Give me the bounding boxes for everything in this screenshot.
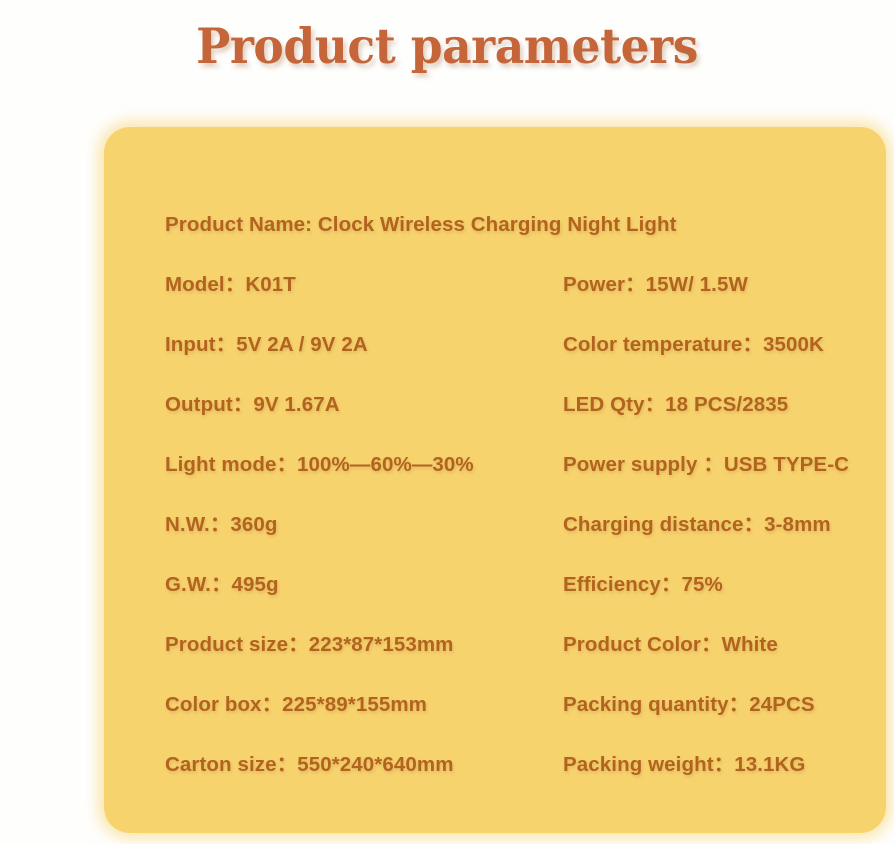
spec-power: Power：15W/ 1.5W bbox=[563, 267, 748, 303]
table-row: Light mode：100%—60%—30% Power supply ：US… bbox=[104, 447, 886, 483]
spec-charging-distance: Charging distance：3-8mm bbox=[563, 507, 831, 543]
spec-color-temperature: Color temperature：3500K bbox=[563, 327, 824, 363]
spec-efficiency: Efficiency：75% bbox=[563, 567, 723, 603]
spec-carton-size: Carton size：550*240*640mm bbox=[165, 747, 454, 783]
table-row: Product Name: Clock Wireless Charging Ni… bbox=[104, 207, 886, 243]
spec-table: Product Name: Clock Wireless Charging Ni… bbox=[104, 127, 886, 833]
spec-power-supply: Power supply ：USB TYPE-C bbox=[563, 447, 849, 483]
spec-input: Input：5V 2A / 9V 2A bbox=[165, 327, 368, 363]
table-row: Output：9V 1.67A LED Qty：18 PCS/2835 bbox=[104, 387, 886, 423]
table-row: N.W.：360g Charging distance：3-8mm bbox=[104, 507, 886, 543]
table-row: Model：K01T Power：15W/ 1.5W bbox=[104, 267, 886, 303]
spec-output: Output：9V 1.67A bbox=[165, 387, 340, 423]
table-row: Carton size：550*240*640mm Packing weight… bbox=[104, 747, 886, 783]
spec-packing-quantity: Packing quantity：24PCS bbox=[563, 687, 815, 723]
spec-net-weight: N.W.：360g bbox=[165, 507, 278, 543]
spec-light-mode: Light mode：100%—60%—30% bbox=[165, 447, 474, 483]
spec-led-qty: LED Qty：18 PCS/2835 bbox=[563, 387, 788, 423]
spec-gross-weight: G.W.：495g bbox=[165, 567, 279, 603]
spec-product-name: Product Name: Clock Wireless Charging Ni… bbox=[165, 207, 677, 243]
table-row: Color box：225*89*155mm Packing quantity：… bbox=[104, 687, 886, 723]
spec-card: Product Name: Clock Wireless Charging Ni… bbox=[104, 127, 886, 833]
spec-product-color: Product Color：White bbox=[563, 627, 778, 663]
table-row: Input：5V 2A / 9V 2A Color temperature：35… bbox=[104, 327, 886, 363]
table-row: Product size：223*87*153mm Product Color：… bbox=[104, 627, 886, 663]
spec-product-size: Product size：223*87*153mm bbox=[165, 627, 454, 663]
page-title: Product parameters bbox=[31, 18, 862, 74]
spec-packing-weight: Packing weight：13.1KG bbox=[563, 747, 805, 783]
table-row: G.W.：495g Efficiency：75% bbox=[104, 567, 886, 603]
spec-model: Model：K01T bbox=[165, 267, 296, 303]
spec-color-box: Color box：225*89*155mm bbox=[165, 687, 427, 723]
